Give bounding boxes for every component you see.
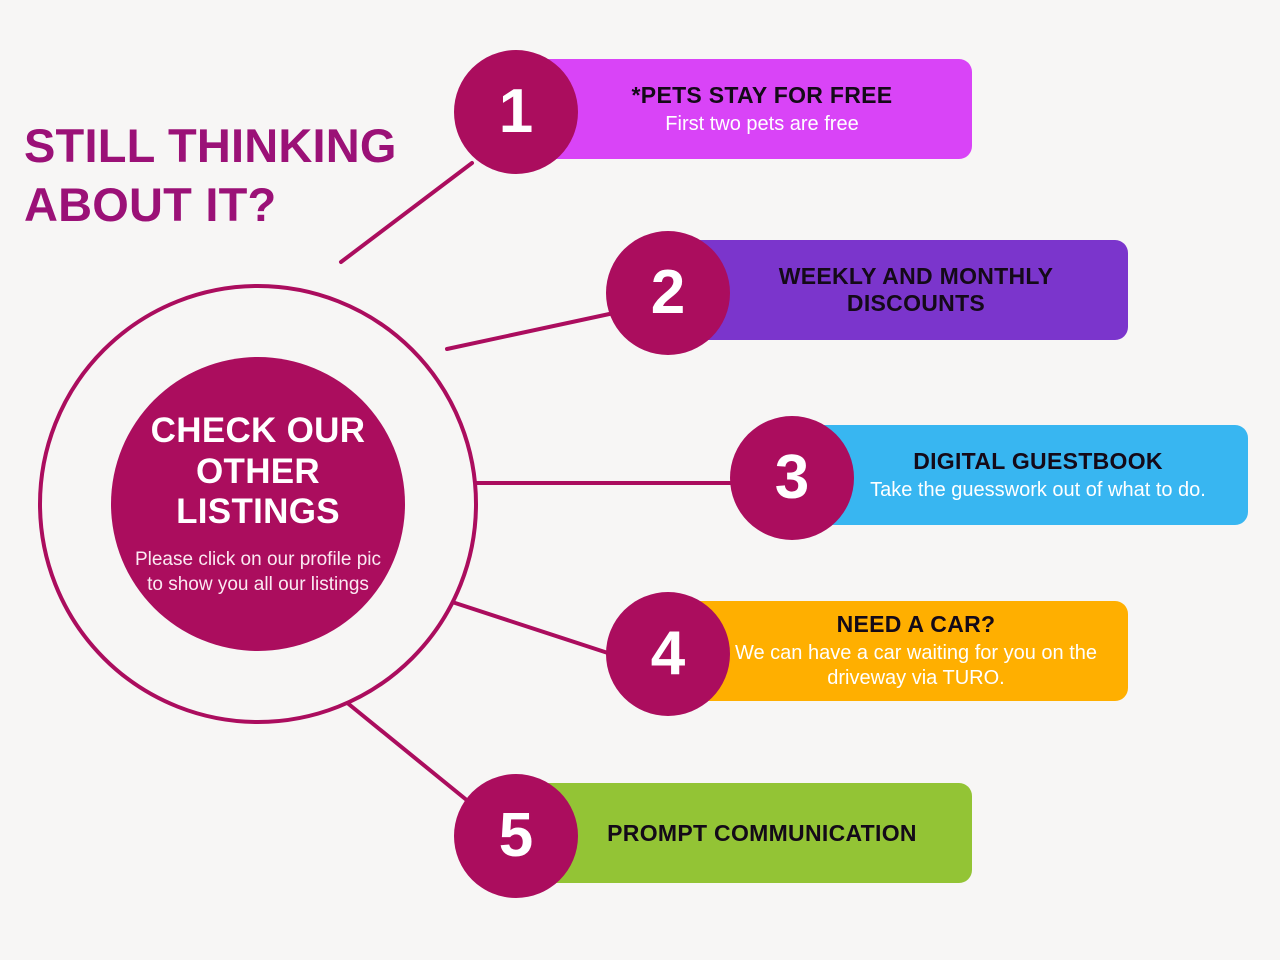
feature-number-badge-4[interactable]: 4 [606,592,730,716]
feature-title-1: *PETS STAY FOR FREE [632,82,893,109]
hub-title: CHECK OUR OTHER LISTINGS [125,411,391,533]
feature-number-badge-2[interactable]: 2 [606,231,730,355]
feature-title-4: NEED A CAR? [837,611,996,638]
page-title-line-2: ABOUT IT? [24,176,464,234]
feature-item-2[interactable]: WEEKLY AND MONTHLY DISCOUNTS 2 [606,240,1128,350]
page-title-line-1: STILL THINKING [24,119,397,172]
feature-subtitle-3: Take the guesswork out of what to do. [870,478,1206,503]
feature-subtitle-4: We can have a car waiting for you on the… [730,641,1102,691]
feature-title-5: PROMPT COMMUNICATION [607,820,917,847]
feature-title-2: WEEKLY AND MONTHLY DISCOUNTS [730,263,1102,317]
feature-item-3[interactable]: DIGITAL GUESTBOOK Take the guesswork out… [730,425,1248,535]
hub-subtitle: Please click on our profile pic to show … [131,547,386,597]
feature-item-4[interactable]: NEED A CAR? We can have a car waiting fo… [606,601,1128,711]
feature-item-5[interactable]: PROMPT COMMUNICATION 5 [454,783,972,893]
feature-subtitle-1: First two pets are free [665,112,858,137]
feature-title-3: DIGITAL GUESTBOOK [913,448,1163,475]
page-title: STILL THINKING ABOUT IT? [24,117,464,234]
central-hub[interactable]: CHECK OUR OTHER LISTINGS Please click on… [38,284,478,724]
hub-core-circle[interactable]: CHECK OUR OTHER LISTINGS Please click on… [111,357,405,651]
infographic-canvas: STILL THINKING ABOUT IT? CHECK OUR OTHER… [0,0,1280,960]
feature-number-badge-5[interactable]: 5 [454,774,578,898]
feature-number-badge-1[interactable]: 1 [454,50,578,174]
feature-number-badge-3[interactable]: 3 [730,416,854,540]
feature-item-1[interactable]: *PETS STAY FOR FREE First two pets are f… [454,59,972,169]
